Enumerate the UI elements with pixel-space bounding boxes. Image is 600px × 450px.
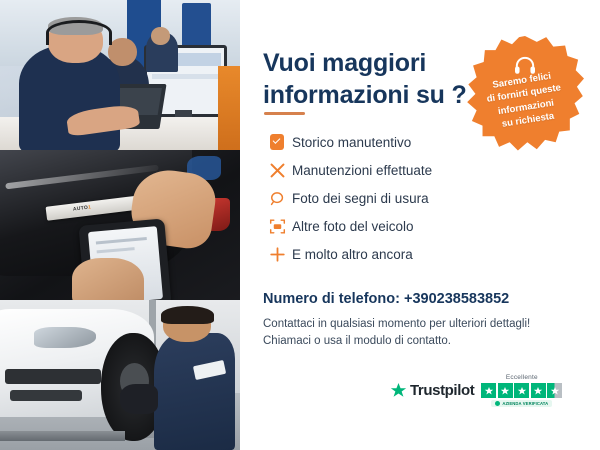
photo-strip: AUTO1 bbox=[0, 0, 240, 450]
trustpilot-rating-label: Eccellente bbox=[506, 374, 538, 381]
mechanic-body bbox=[154, 333, 236, 450]
plus-icon bbox=[262, 243, 292, 265]
verified-check-icon bbox=[495, 401, 500, 406]
photo-orange-banner bbox=[218, 66, 240, 150]
feature-label: Altre foto del veicolo bbox=[292, 219, 414, 234]
car-inspection-photo: AUTO1 bbox=[0, 150, 240, 300]
title-divider bbox=[264, 112, 305, 115]
contact-description: Contattaci in qualsiasi momento per ulte… bbox=[263, 316, 563, 351]
hand-lower bbox=[72, 258, 144, 300]
feature-list: Storico manutentivo Manutenzioni effettu… bbox=[262, 128, 512, 268]
measuring-strip-label: AUTO1 bbox=[72, 204, 91, 212]
star-half bbox=[547, 383, 562, 398]
call-center-photo bbox=[0, 0, 240, 150]
feature-item-altre-foto: Altre foto del veicolo bbox=[262, 212, 512, 240]
trustpilot-rating: Eccellente AZIENDA VERIFICATA bbox=[481, 374, 562, 407]
phone-number-label: Numero di telefono: +390238583852 bbox=[263, 291, 563, 307]
camera-frame-icon bbox=[262, 215, 292, 237]
page-title: Vuoi maggiori informazioni su ? bbox=[263, 47, 493, 111]
trustpilot-stars bbox=[481, 383, 562, 398]
verified-label: AZIENDA VERIFICATA bbox=[502, 401, 548, 406]
car-lower-grille bbox=[10, 390, 82, 401]
star-filled bbox=[481, 383, 496, 398]
contact-description-line-2: Chiamaci o usa il modulo di contatto. bbox=[263, 335, 451, 347]
trustpilot-widget[interactable]: Trustpilot Eccellente AZIENDA VERIFICATA bbox=[390, 374, 562, 407]
photo-wall-poster bbox=[182, 3, 211, 48]
contact-description-line-1: Contattaci in qualsiasi momento per ulte… bbox=[263, 318, 530, 330]
feature-label: Foto dei segni di usura bbox=[292, 191, 429, 206]
page-title-line-1: Vuoi maggiori bbox=[263, 49, 426, 77]
feature-label: E molto altro ancora bbox=[292, 247, 413, 262]
monitor-screen-row2 bbox=[152, 74, 218, 79]
feature-label: Storico manutentivo bbox=[292, 135, 411, 150]
car-headlight bbox=[34, 327, 96, 348]
trustpilot-star-icon bbox=[390, 382, 407, 399]
feature-label: Manutenzioni effettuate bbox=[292, 163, 432, 178]
content-panel: Vuoi maggiori informazioni su ? Saremo f… bbox=[240, 0, 600, 450]
trustpilot-logo: Trustpilot bbox=[390, 382, 474, 399]
feature-item-storico: Storico manutentivo bbox=[262, 128, 512, 156]
car-grille bbox=[5, 369, 101, 384]
checkbox-checked-icon bbox=[262, 131, 292, 153]
feature-item-altro-ancora: E molto altro ancora bbox=[262, 240, 512, 268]
garage-lift-photo bbox=[0, 300, 240, 450]
star-filled bbox=[498, 383, 513, 398]
promo-poster: AUTO1 bbox=[0, 0, 600, 450]
mechanic-glove bbox=[120, 384, 158, 414]
mechanic-hair bbox=[161, 306, 214, 324]
lift-platform bbox=[0, 431, 125, 442]
trustpilot-verified-badge: AZIENDA VERIFICATA bbox=[491, 400, 552, 407]
headset-worn-icon bbox=[46, 20, 112, 46]
page-title-line-2: informazioni su ? bbox=[263, 81, 467, 109]
magnifier-icon bbox=[262, 187, 292, 209]
star-filled bbox=[514, 383, 529, 398]
star-filled bbox=[531, 383, 546, 398]
trustpilot-wordmark: Trustpilot bbox=[410, 382, 474, 399]
feature-item-foto-usura: Foto dei segni di usura bbox=[262, 184, 512, 212]
feature-item-manutenzioni: Manutenzioni effettuate bbox=[262, 156, 512, 184]
wrench-cross-icon bbox=[262, 159, 292, 181]
